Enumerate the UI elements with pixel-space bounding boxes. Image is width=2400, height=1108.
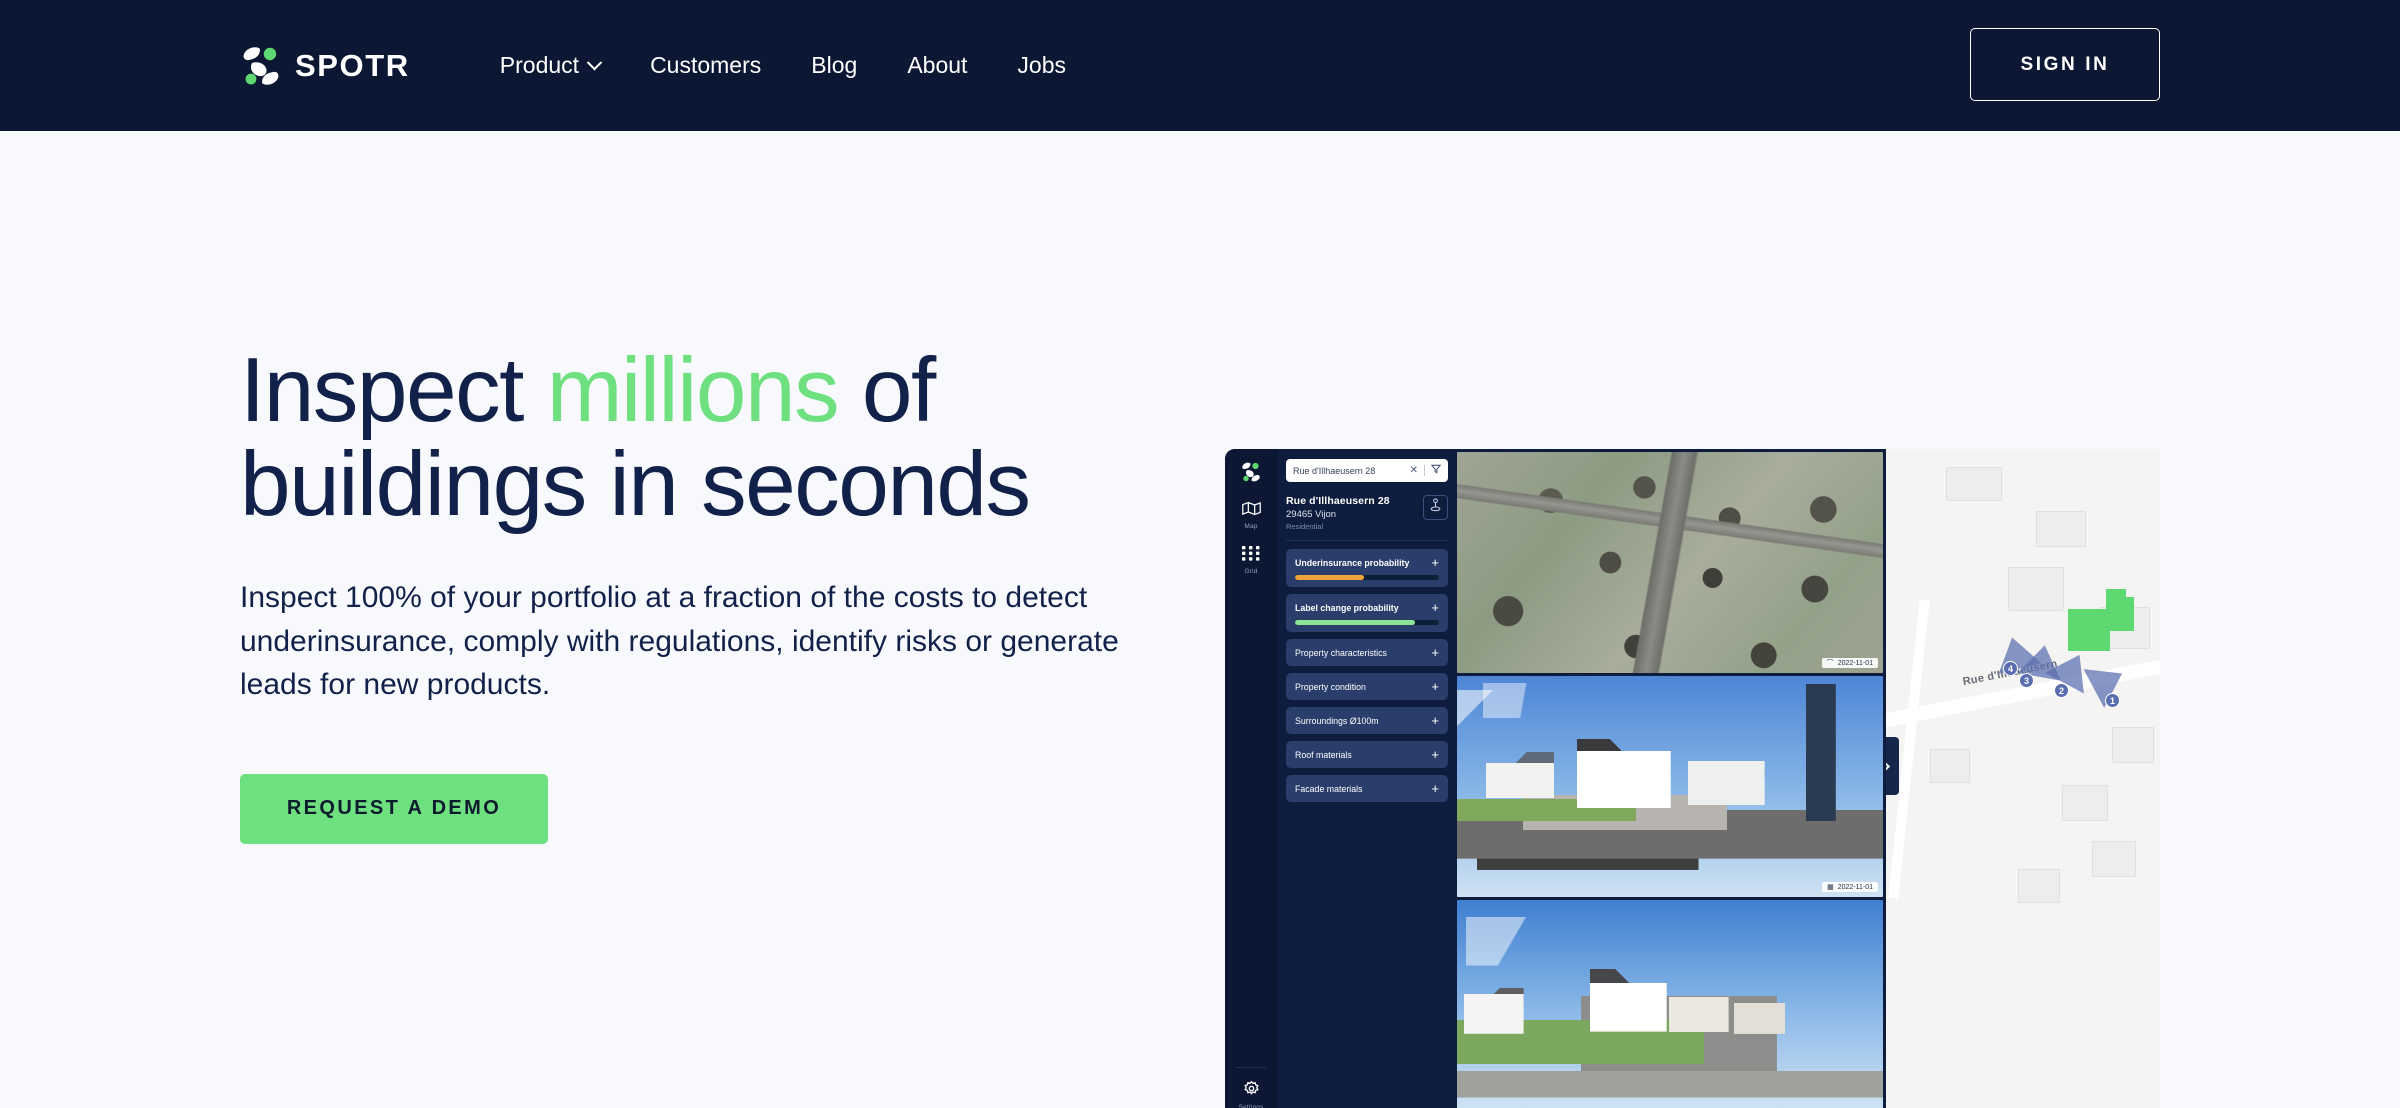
- plus-icon[interactable]: +: [1431, 782, 1439, 795]
- map-building: [2018, 869, 2060, 903]
- map-building: [2112, 727, 2154, 763]
- nav-label-about: About: [907, 52, 967, 79]
- photo-date: 2022-11-01: [1838, 660, 1873, 667]
- grid-icon: [1242, 546, 1260, 566]
- search-value: Rue d'Illhaeusern 28: [1293, 466, 1404, 476]
- spotr-logo-icon: [240, 44, 282, 88]
- sidebar-label-map: Map: [1244, 523, 1257, 530]
- chevron-right-icon: [1886, 761, 1890, 771]
- map-icon: [1242, 501, 1261, 521]
- map-building: [2062, 785, 2108, 821]
- map-building: [2092, 841, 2136, 877]
- aerial-photo[interactable]: ⌒ 2022-11-01: [1457, 452, 1883, 673]
- section-facade-materials[interactable]: Facade materials +: [1286, 775, 1448, 802]
- photo-date-badge: ⌒ 2022-11-01: [1822, 658, 1878, 668]
- property-panel: Rue d'Illhaeusern 28 ✕ Rue d'Illhaeusern…: [1277, 449, 1457, 1108]
- section-label: Facade materials: [1295, 784, 1362, 794]
- hero-section: Inspect millions of buildings in seconds…: [0, 131, 2400, 1108]
- metric-bar-fill-underinsurance: [1295, 575, 1364, 580]
- plus-icon[interactable]: +: [1431, 601, 1439, 614]
- gear-icon: [1243, 1080, 1260, 1102]
- sidebar-label-settings: Settings: [1238, 1104, 1263, 1108]
- sidebar-item-map[interactable]: Map: [1242, 501, 1261, 530]
- metric-card-label-change[interactable]: Label change probability +: [1286, 594, 1448, 632]
- plus-icon[interactable]: +: [1431, 714, 1439, 727]
- street-view-icon: [1429, 498, 1442, 517]
- property-type: Residential: [1286, 522, 1423, 531]
- photo-date: 2022-11-01: [1838, 884, 1873, 891]
- plus-icon[interactable]: +: [1431, 646, 1439, 659]
- section-property-condition[interactable]: Property condition +: [1286, 673, 1448, 700]
- map-building: [1930, 749, 1970, 783]
- metric-label-label-change: Label change probability: [1295, 603, 1399, 613]
- headline-part-1: Inspect: [240, 340, 547, 441]
- sidebar-item-settings[interactable]: Settings: [1225, 1070, 1277, 1108]
- headline-accent-word: millions: [547, 340, 838, 441]
- hero-subheadline: Inspect 100% of your portfolio at a frac…: [240, 576, 1180, 707]
- nav-label-jobs: Jobs: [1017, 52, 1066, 79]
- map-pin-2[interactable]: 2: [2054, 683, 2069, 698]
- close-icon[interactable]: ✕: [1410, 466, 1418, 476]
- panel-collapse-button[interactable]: [1886, 737, 1899, 795]
- section-label: Property condition: [1295, 682, 1366, 692]
- street-front-photo[interactable]: ▦ 2022-11-01: [1457, 676, 1883, 897]
- app-sidebar: Map Grid: [1225, 449, 1277, 1108]
- metric-bar-label-change: [1295, 620, 1439, 625]
- photo-date-badge: ▦ 2022-11-01: [1822, 882, 1878, 892]
- street-side-photo[interactable]: [1457, 900, 1883, 1108]
- metric-bar-fill-label-change: [1295, 620, 1415, 625]
- site-header: SPOTR Product Customers Blog About Jobs …: [0, 0, 2400, 131]
- section-label: Roof materials: [1295, 750, 1352, 760]
- filter-icon[interactable]: [1431, 464, 1441, 477]
- app-mockup: Map Grid: [1225, 449, 2160, 1108]
- panel-divider: [1286, 540, 1448, 541]
- section-surroundings[interactable]: Surroundings Ø100m +: [1286, 707, 1448, 734]
- metric-label-underinsurance: Underinsurance probability: [1295, 558, 1409, 568]
- chevron-down-icon: [587, 55, 603, 71]
- sign-in-button[interactable]: SIGN IN: [1970, 28, 2160, 101]
- plus-icon[interactable]: +: [1431, 680, 1439, 693]
- nav-item-product[interactable]: Product: [475, 52, 625, 79]
- app-window: Map Grid: [1225, 449, 1886, 1108]
- camera-icon: ▦: [1827, 884, 1834, 891]
- map-view[interactable]: Rue d'Illhaeusern 4 3 2 1: [1886, 449, 2160, 1108]
- brand-name: SPOTR: [295, 50, 410, 81]
- nav-item-customers[interactable]: Customers: [625, 52, 786, 79]
- nav-label-product: Product: [500, 52, 579, 79]
- brand-logo[interactable]: SPOTR: [240, 44, 410, 88]
- sidebar-item-grid[interactable]: Grid: [1242, 546, 1260, 575]
- metric-bar-underinsurance: [1295, 575, 1439, 580]
- section-roof-materials[interactable]: Roof materials +: [1286, 741, 1448, 768]
- sidebar-spotr-logo-icon[interactable]: [1240, 461, 1262, 483]
- property-summary: Rue d'Illhaeusern 28 29465 Vijon Residen…: [1286, 495, 1448, 531]
- search-input[interactable]: Rue d'Illhaeusern 28 ✕: [1286, 459, 1448, 482]
- street-view-button[interactable]: [1423, 495, 1448, 520]
- photo-column: ⌒ 2022-11-01 ▦ 2022-11-01: [1457, 449, 1886, 1108]
- nav-item-about[interactable]: About: [882, 52, 992, 79]
- section-property-characteristics[interactable]: Property characteristics +: [1286, 639, 1448, 666]
- map-building: [1946, 467, 2002, 501]
- sidebar-label-grid: Grid: [1244, 568, 1257, 575]
- nav-label-customers: Customers: [650, 52, 761, 79]
- section-label: Surroundings Ø100m: [1295, 716, 1379, 726]
- plus-icon[interactable]: +: [1431, 748, 1439, 761]
- map-pin-4[interactable]: 4: [2003, 661, 2018, 676]
- nav-label-blog: Blog: [811, 52, 857, 79]
- map-highlighted-building: [2068, 609, 2110, 651]
- hero-copy: Inspect millions of buildings in seconds…: [240, 131, 1210, 1108]
- primary-nav: Product Customers Blog About Jobs: [475, 52, 1091, 79]
- aerial-icon: ⌒: [1827, 660, 1834, 667]
- map-pin-3[interactable]: 3: [2019, 673, 2034, 688]
- request-demo-button[interactable]: REQUEST A DEMO: [240, 774, 548, 844]
- search-divider: [1424, 465, 1425, 476]
- sidebar-divider: [1236, 1067, 1266, 1068]
- map-highlighted-building: [2110, 597, 2134, 631]
- nav-item-jobs[interactable]: Jobs: [992, 52, 1091, 79]
- page-title: Inspect millions of buildings in seconds: [240, 344, 1210, 531]
- nav-item-blog[interactable]: Blog: [786, 52, 882, 79]
- plus-icon[interactable]: +: [1431, 556, 1439, 569]
- metric-card-underinsurance[interactable]: Underinsurance probability +: [1286, 549, 1448, 587]
- map-pin-1[interactable]: 1: [2105, 693, 2120, 708]
- map-building: [2036, 511, 2086, 547]
- map-building: [2008, 567, 2064, 611]
- property-postal-city: 29465 Vijon: [1286, 509, 1423, 520]
- property-address: Rue d'Illhaeusern 28: [1286, 495, 1423, 507]
- section-label: Property characteristics: [1295, 648, 1387, 658]
- property-address-block: Rue d'Illhaeusern 28 29465 Vijon Residen…: [1286, 495, 1423, 531]
